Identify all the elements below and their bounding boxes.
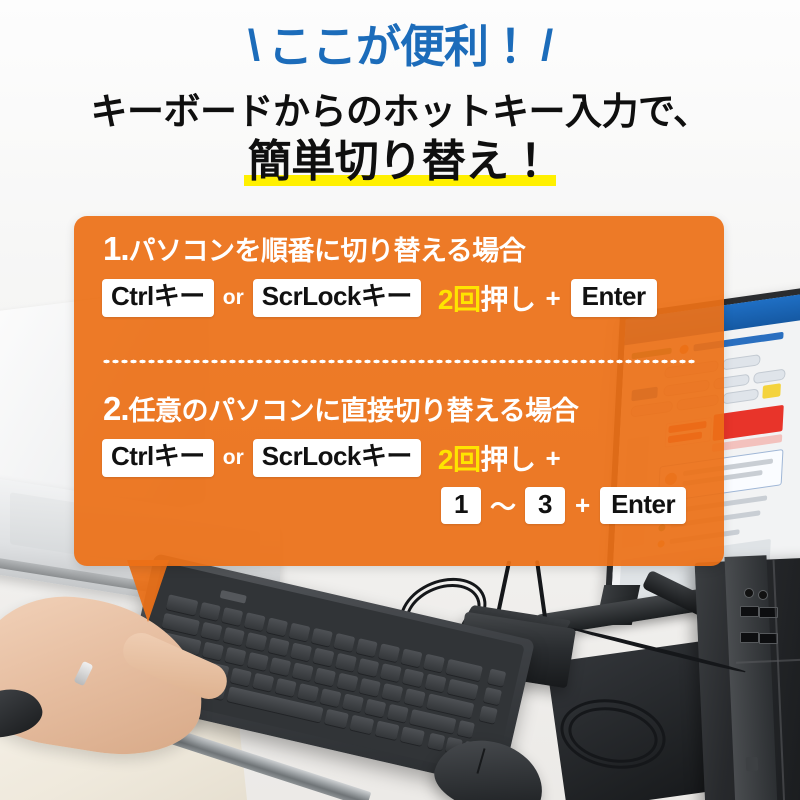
or-label: or [223, 286, 244, 310]
key-enter: Enter [600, 487, 686, 524]
headline-tertiary-wrap: 簡単切り替え！ [0, 140, 800, 184]
audio-jack [744, 588, 754, 598]
press-twice-label: 2回押し [438, 438, 536, 478]
keyboard-key [166, 594, 199, 615]
keyboard-key [224, 647, 246, 666]
keyboard-key [357, 658, 379, 677]
keyboard-key [311, 628, 333, 647]
keyboard-key [245, 632, 267, 651]
press-count: 2回 [438, 284, 481, 315]
keyboard-key [483, 687, 502, 705]
hotkey-callout-panel: 1.パソコンを順番に切り替える場合 Ctrlキー or ScrLockキー 2回… [74, 216, 724, 566]
press-count: 2回 [438, 444, 481, 475]
slash-left-icon: \ [239, 24, 268, 68]
slash-right-icon: / [532, 24, 561, 68]
keyboard-key [425, 674, 447, 693]
or-label: or [223, 446, 244, 470]
keyboard-key-ctrl [400, 726, 425, 746]
keyboard-key [313, 648, 335, 667]
headline-secondary: キーボードからのホットキー入力で、 [0, 93, 800, 130]
hotkey-block-2-row-2: 1 〜 3 + Enter [441, 487, 724, 524]
keyboard-brand [220, 590, 247, 604]
keyboard-key [314, 668, 336, 687]
keyboard-key [337, 673, 359, 692]
key-number-3: 3 [525, 487, 565, 524]
webpage-chip [753, 369, 786, 385]
keyboard-key [292, 662, 314, 681]
keyboard-key [252, 673, 274, 692]
keyboard-key [349, 715, 374, 735]
keyboard-key [380, 663, 402, 682]
key-enter: Enter [571, 279, 657, 316]
hotkey-block-2: 2.任意のパソコンに直接切り替える場合 Ctrlキー or ScrLockキー … [74, 392, 724, 524]
plus-sign: + [575, 490, 590, 521]
key-scrlock: ScrLockキー [253, 279, 421, 316]
keyboard-key [290, 643, 312, 662]
block-2-title-text: 任意のパソコンに直接切り替える場合 [129, 396, 579, 426]
keyboard-key [335, 653, 357, 672]
promo-image: \ここが便利！/ キーボードからのホットキー入力で、 簡単切り替え！ 1.パソコ… [0, 0, 800, 800]
usb-port [740, 632, 759, 643]
plus-sign: + [545, 443, 560, 474]
block-1-number: 1. [103, 230, 129, 267]
press-verb: 押し [480, 284, 535, 315]
mic-jack [758, 590, 768, 600]
hotkey-block-1-row: Ctrlキー or ScrLockキー 2回押し + Enter [102, 278, 724, 318]
keyboard-key [297, 683, 319, 702]
keyboard-key [401, 649, 423, 668]
keyboard-key [445, 659, 482, 681]
plus-sign: + [545, 283, 560, 314]
key-number-1: 1 [441, 487, 481, 524]
keyboard-key [244, 612, 266, 631]
hotkey-block-2-row-1: Ctrlキー or ScrLockキー 2回押し + [102, 438, 724, 478]
keyboard-key [404, 688, 426, 707]
keyboard-key [359, 678, 381, 697]
keyboard-key [447, 679, 479, 700]
keyboard-key [221, 607, 243, 626]
keyboard-key [320, 688, 342, 707]
keyboard-key [223, 627, 245, 646]
keyboard-key [289, 623, 311, 642]
callout-tail [127, 560, 169, 622]
hotkey-block-1-title: 1.パソコンを順番に切り替える場合 [103, 232, 724, 265]
keyboard-key [364, 699, 386, 718]
press-twice-label: 2回押し [438, 278, 536, 318]
keyboard-key [247, 652, 269, 671]
keyboard-key [201, 622, 223, 641]
keyboard-key [378, 643, 400, 662]
keyboard-key [387, 704, 409, 723]
block-1-title-text: パソコンを順番に切り替える場合 [129, 236, 526, 266]
key-scrlock: ScrLockキー [253, 439, 421, 476]
keyboard-key [275, 678, 297, 697]
headline-primary-text: ここが便利！ [268, 21, 532, 72]
keyboard-key-arrow [427, 733, 445, 751]
keyboard-key [269, 657, 291, 676]
headline-tertiary-text: 簡単切り替え！ [248, 137, 553, 186]
key-ctrl: Ctrlキー [102, 279, 214, 316]
keyboard-key-arrow [457, 720, 475, 738]
hotkey-block-2-title: 2.任意のパソコンに直接切り替える場合 [103, 392, 724, 425]
keyboard-key [479, 706, 498, 724]
pc-power-button [746, 757, 759, 772]
headline-tertiary: 簡単切り替え！ [244, 140, 557, 184]
webpage-chip [722, 388, 759, 404]
keyboard-key [487, 669, 506, 687]
press-verb: 押し [480, 444, 535, 475]
webpage-chip [722, 354, 761, 370]
webpage-badge [762, 383, 781, 399]
headline-primary: \ここが便利！/ [0, 24, 800, 70]
keyboard-key [333, 633, 355, 652]
block-2-number: 2. [103, 390, 129, 427]
hotkey-block-1: 1.パソコンを順番に切り替える場合 Ctrlキー or ScrLockキー 2回… [74, 232, 724, 318]
keyboard-key [356, 638, 378, 657]
keyboard-key [202, 642, 224, 661]
headline-group: \ここが便利！/ キーボードからのホットキー入力で、 簡単切り替え！ [0, 0, 800, 205]
range-tilde: 〜 [490, 487, 516, 524]
usb-port [740, 606, 759, 617]
key-ctrl: Ctrlキー [102, 439, 214, 476]
keyboard-key [423, 654, 445, 673]
keyboard-key [381, 683, 403, 702]
keyboard-key [199, 602, 221, 621]
keyboard-key [268, 637, 290, 656]
keyboard-key [324, 709, 349, 729]
keyboard-key [375, 721, 400, 741]
dotted-divider [102, 359, 697, 364]
keyboard-key [342, 693, 364, 712]
keyboard-key [266, 617, 288, 636]
keyboard-key [230, 668, 252, 687]
keyboard-key [402, 668, 424, 687]
